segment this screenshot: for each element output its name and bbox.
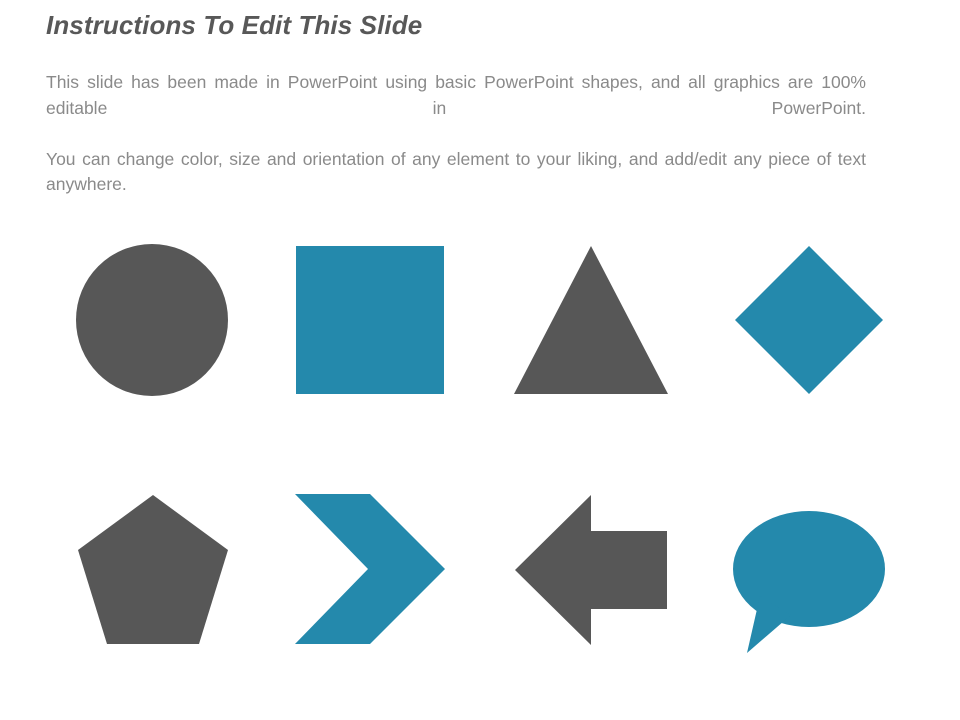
shape-chevron-right-arrow[interactable] <box>295 494 445 644</box>
shapes-gallery <box>0 0 960 720</box>
shape-square[interactable] <box>296 246 444 394</box>
square-icon <box>296 246 444 394</box>
shape-triangle[interactable] <box>514 246 668 394</box>
shape-circle[interactable] <box>76 244 228 396</box>
shape-left-arrow[interactable] <box>515 495 667 645</box>
triangle-icon <box>514 246 668 394</box>
diamond-icon <box>735 246 883 394</box>
circle-icon <box>76 244 228 396</box>
left-arrow-icon <box>515 495 667 645</box>
pentagon-icon <box>78 495 228 644</box>
shape-speech-bubble[interactable] <box>733 511 885 653</box>
speech-bubble-icon <box>733 511 885 653</box>
shape-diamond[interactable] <box>735 246 883 394</box>
chevron-right-arrow-icon <box>295 494 445 644</box>
shape-pentagon[interactable] <box>78 495 228 644</box>
slide-canvas: Instructions To Edit This Slide This sli… <box>0 0 960 720</box>
